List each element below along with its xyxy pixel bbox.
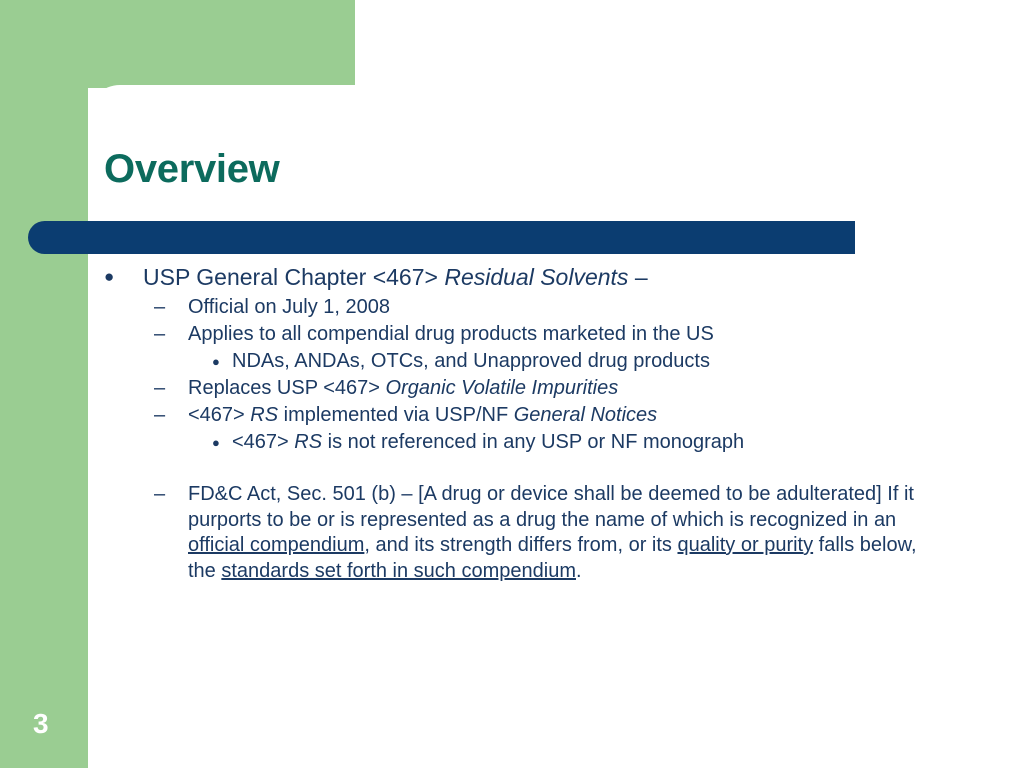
bullet-text-part: <467> — [232, 431, 294, 453]
bullet-level1-usp-general-chapter: ●USP General Chapter <467> Residual Solv… — [0, 262, 1024, 292]
disc-bullet-icon: ● — [212, 429, 220, 456]
dash-bullet-icon: – — [154, 482, 165, 508]
disc-bullet-icon: ● — [104, 262, 114, 292]
slide-title: Overview — [104, 147, 280, 192]
bullet-text-italic: RS — [250, 404, 278, 426]
bullet-text-italic: RS — [294, 431, 322, 453]
bullet-level2-applies-to: –Applies to all compendial drug products… — [0, 321, 1024, 348]
bullet-text-part: USP General Chapter <467> — [143, 264, 444, 290]
bullet-level2-implemented-via: –<467> RS implemented via USP/NF General… — [0, 402, 1024, 429]
body-spacer — [0, 456, 1024, 482]
bullet-text-part: Replaces USP <467> — [188, 377, 386, 399]
page-number: 3 — [33, 708, 49, 740]
slide-body: ●USP General Chapter <467> Residual Solv… — [0, 262, 1024, 584]
dash-bullet-icon: – — [154, 375, 165, 402]
dash-bullet-icon: – — [154, 321, 165, 348]
paragraph-text-underlined: official compendium — [188, 534, 364, 556]
slide: Overview 3 ●USP General Chapter <467> Re… — [0, 0, 1024, 768]
dash-bullet-icon: – — [154, 294, 165, 321]
bullet-level2-fdc-act-paragraph: –FD&C Act, Sec. 501 (b) – [A drug or dev… — [0, 482, 1024, 584]
paragraph-text-part: FD&C Act, Sec. 501 (b) – [A drug or devi… — [188, 483, 914, 531]
title-divider-bar — [28, 221, 855, 254]
bullet-text-part: implemented via USP/NF — [278, 404, 514, 426]
bullet-text-part: is not referenced in any USP or NF monog… — [322, 431, 744, 453]
bullet-text-italic: Residual Solvents — [444, 264, 628, 290]
paragraph-text-part: . — [576, 560, 582, 582]
paragraph-text-part: , and its strength differs from, or its — [364, 534, 677, 556]
bullet-level3-drug-product-types: ●NDAs, ANDAs, OTCs, and Unapproved drug … — [0, 348, 1024, 375]
green-header-block — [0, 0, 355, 88]
paragraph-text-underlined: standards set forth in such compendium — [221, 560, 576, 582]
disc-bullet-icon: ● — [212, 348, 220, 375]
bullet-text-part: Applies to all compendial drug products … — [188, 323, 714, 345]
bullet-text-part: Official on July 1, 2008 — [188, 296, 390, 318]
bullet-level3-not-referenced: ●<467> RS is not referenced in any USP o… — [0, 429, 1024, 456]
bullet-text-italic: General Notices — [514, 404, 657, 426]
bullet-text-part: NDAs, ANDAs, OTCs, and Unapproved drug p… — [232, 350, 710, 372]
dash-bullet-icon: – — [154, 402, 165, 429]
bullet-text-italic: Organic Volatile Impurities — [386, 377, 619, 399]
bullet-level2-official-date: –Official on July 1, 2008 — [0, 294, 1024, 321]
bullet-text-part: – — [628, 264, 647, 290]
bullet-text-part: <467> — [188, 404, 250, 426]
bullet-level2-replaces-ovi: –Replaces USP <467> Organic Volatile Imp… — [0, 375, 1024, 402]
paragraph-text-underlined: quality or purity — [677, 534, 813, 556]
